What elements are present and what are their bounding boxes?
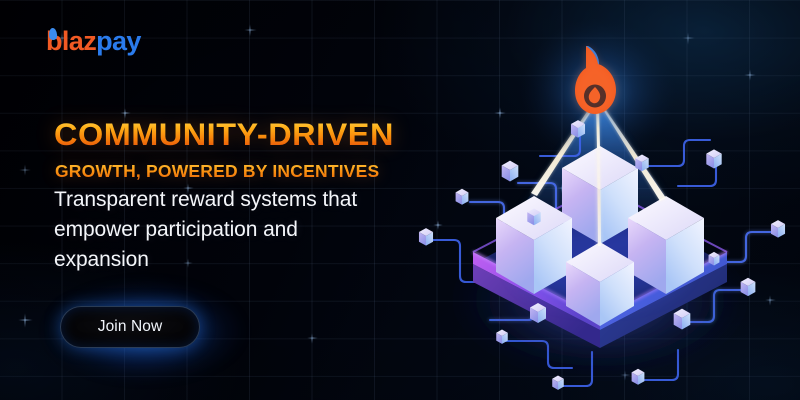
hero-headline: COMMUNITY-DRIVEN	[54, 119, 394, 151]
logo-droplet-icon	[48, 28, 57, 41]
logo-text-pay: pay	[96, 26, 141, 56]
logo-text-blaz: blaz	[46, 26, 96, 56]
blazpay-logo[interactable]: blazpay	[46, 28, 141, 55]
join-now-button[interactable]: Join Now	[60, 306, 200, 348]
hero-body-text: Transparent reward systems that empower …	[54, 185, 384, 274]
hero-subheadline: GROWTH, POWERED BY INCENTIVES	[55, 163, 379, 181]
promo-banner: blazpay COMMUNITY-DRIVEN GROWTH, POWERED…	[0, 0, 800, 400]
illustration-svg	[410, 0, 800, 400]
cta-container: Join Now	[60, 306, 200, 348]
blockchain-illustration	[410, 0, 800, 400]
